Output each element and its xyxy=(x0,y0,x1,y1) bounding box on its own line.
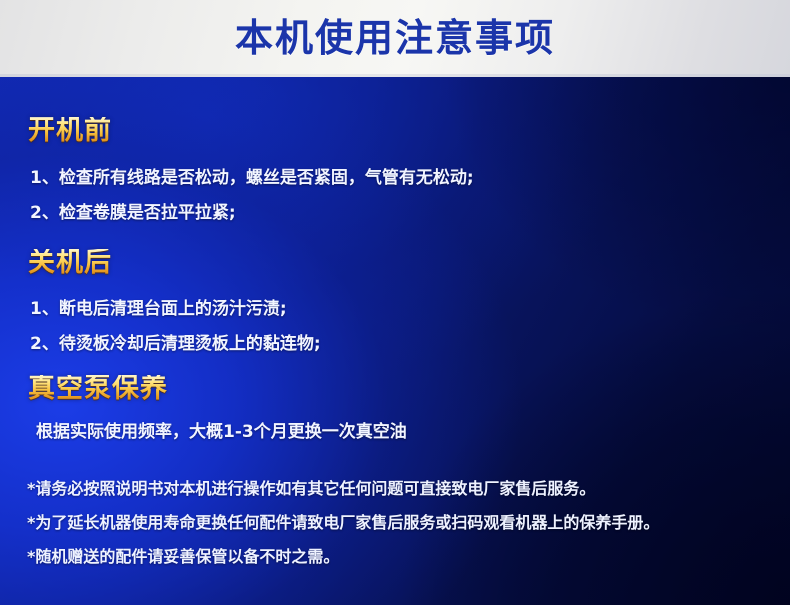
section-heading-before-startup: 开机前 xyxy=(28,117,112,144)
section-heading-after-shutdown: 关机后 xyxy=(28,249,112,276)
poster-header-band: 本机使用注意事项 xyxy=(0,0,790,77)
footnote-line: *随机赠送的配件请妥善保管以备不时之需。 xyxy=(27,549,339,565)
list-item: 2、待烫板冷却后清理烫板上的黏连物; xyxy=(30,336,321,353)
list-item: 1、断电后清理台面上的汤汁污渍; xyxy=(30,301,287,318)
section-description: 根据实际使用频率，大概1-3个月更换一次真空油 xyxy=(36,424,407,441)
page-title: 本机使用注意事项 xyxy=(235,19,555,59)
list-item: 1、检查所有线路是否松动，螺丝是否紧固，气管有无松动; xyxy=(30,170,474,187)
list-item: 2、检查卷膜是否拉平拉紧; xyxy=(30,205,236,222)
footnote-line: *请务必按照说明书对本机进行操作如有其它任何问题可直接致电厂家售后服务。 xyxy=(27,481,595,497)
poster-body: 开机前 1、检查所有线路是否松动，螺丝是否紧固，气管有无松动; 2、检查卷膜是否… xyxy=(0,77,790,605)
instruction-poster: 本机使用注意事项 开机前 1、检查所有线路是否松动，螺丝是否紧固，气管有无松动;… xyxy=(0,0,790,605)
footnote-line: *为了延长机器使用寿命更换任何配件请致电厂家售后服务或扫码观看机器上的保养手册。 xyxy=(27,515,659,531)
section-heading-vacuum-pump-maintenance: 真空泵保养 xyxy=(28,375,168,402)
